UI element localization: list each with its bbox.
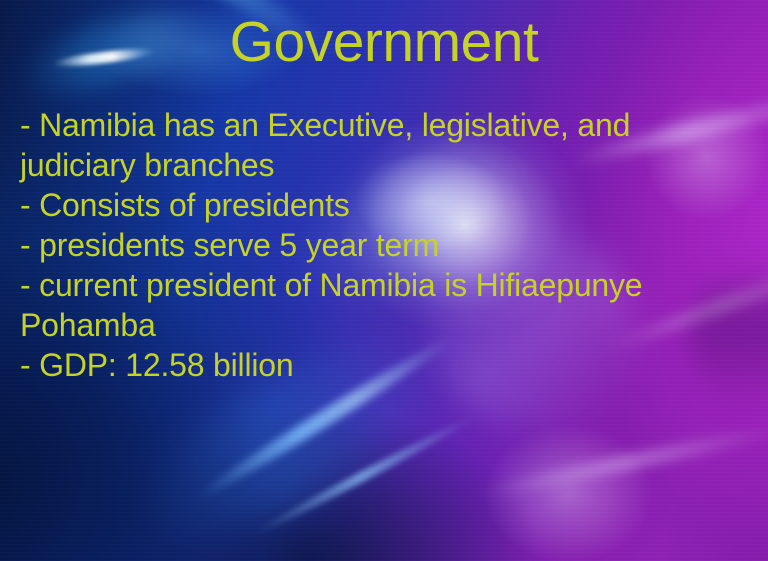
slide-body: - Namibia has an Executive, legislative,…: [20, 105, 700, 385]
background-streak-right-edge-dark: [690, 260, 768, 410]
background-streak-lower-bright-secondary: [252, 412, 477, 538]
bullet-line: - Namibia has an Executive, legislative,…: [20, 105, 700, 185]
background-streak-right-purple-lower: [472, 422, 768, 502]
bullet-line: - current president of Namibia is Hifiae…: [20, 265, 700, 345]
bullet-line: - Consists of presidents: [20, 185, 700, 225]
bullet-line: - GDP: 12.58 billion: [20, 345, 700, 385]
slide-title: Government: [0, 10, 768, 74]
presentation-slide: Government - Namibia has an Executive, l…: [0, 0, 768, 561]
bullet-line: - presidents serve 5 year term: [20, 225, 700, 265]
